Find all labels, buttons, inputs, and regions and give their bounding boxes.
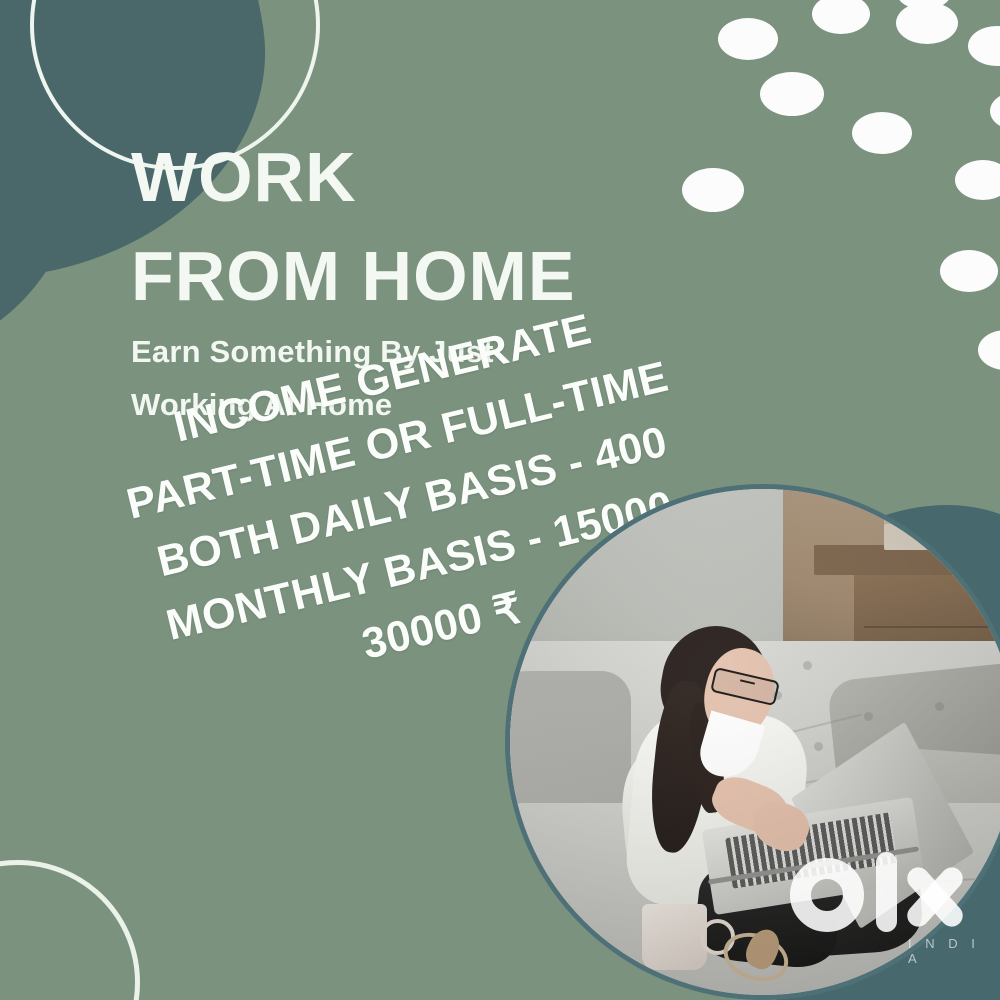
decor-dot (812, 0, 870, 34)
olx-watermark: I N D I A (790, 852, 980, 962)
page-title: WORK FROM HOME (131, 128, 576, 327)
decor-dot (682, 168, 744, 212)
olx-logo-x-icon (902, 864, 976, 930)
decor-dot (718, 18, 778, 60)
olx-region-label: I N D I A (908, 936, 980, 966)
decor-dot (968, 26, 1000, 66)
poster-canvas: WORK FROM HOME Earn Something By Just Wo… (0, 0, 1000, 1000)
decor-dot (760, 72, 824, 116)
olx-logo-l-icon (876, 852, 897, 932)
decor-dot (978, 330, 1000, 370)
decor-dots-cluster (700, 0, 1000, 230)
decor-dot (852, 112, 912, 154)
decor-ring-bottom-left (0, 860, 140, 1000)
decor-dot (955, 160, 1000, 200)
olx-logo-o-icon (790, 858, 864, 932)
decor-dot (940, 250, 998, 292)
decor-dot (990, 92, 1000, 130)
